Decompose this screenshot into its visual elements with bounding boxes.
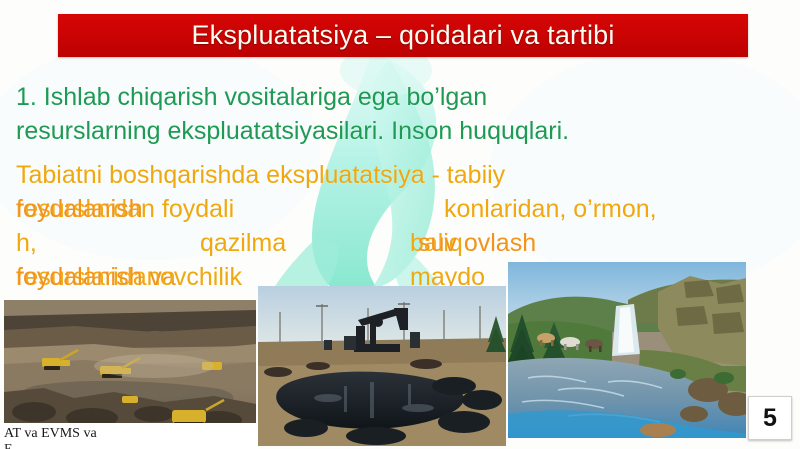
orange-fragment-h: h, [16, 228, 37, 258]
paragraph-green: 1. Ishlab chiqarish vositalariga ega bo’… [16, 80, 776, 148]
photo-mining-quarry [4, 300, 256, 428]
orange-fragment-resurslaridan: resurslaridan [16, 262, 161, 292]
photo-waterfall-river [508, 262, 746, 438]
paragraph-green-line-1-text: 1. Ishlab chiqarish vositalariga ega bo’… [16, 80, 487, 114]
footer-caption-line-1: AT va EVMS va [4, 426, 254, 442]
orange-fragment-qazilma: qazilma [200, 228, 286, 258]
photo-oil-pumpjack [258, 286, 506, 446]
orange-fragment-resurslardan-foydali: resurslardan foydali [16, 194, 234, 224]
slide-title-banner: Ekspluatatsiya – qoidalari va tartibi [58, 14, 748, 57]
orange-line-1: Tabiatni boshqarishda ekspluatatsiya - t… [16, 160, 505, 190]
orange-fragment-konlaridan-ormon: konlaridan, o’rmon, [444, 194, 657, 224]
paragraph-green-line-2: resurslarning ekspluatatsiyasilari. Inso… [16, 114, 776, 148]
slide-canvas: Ekspluatatsiya – qoidalari va tartibi 1.… [0, 0, 800, 449]
footer-caption-line-2: Е [4, 442, 254, 449]
paragraph-green-line-1: 1. Ishlab chiqarish vositalariga ega bo’… [16, 80, 776, 114]
page-title: Ekspluatatsiya – qoidalari va tartibi [191, 20, 614, 51]
footer-caption-box: AT va EVMS va Е [0, 423, 258, 449]
orange-fragment-baliq: baliq [410, 228, 463, 258]
orange-fragment-foydalanish: foydalanish [16, 194, 142, 224]
page-number-badge: 5 [748, 396, 792, 440]
orange-fragment-suv-ovlash: suv ovlash [418, 228, 536, 258]
orange-fragment-foydalanish-va: foydalanish va [16, 262, 176, 292]
page-number-value: 5 [763, 404, 777, 433]
orange-fragment-ovchilik: ovchilik [160, 262, 242, 292]
